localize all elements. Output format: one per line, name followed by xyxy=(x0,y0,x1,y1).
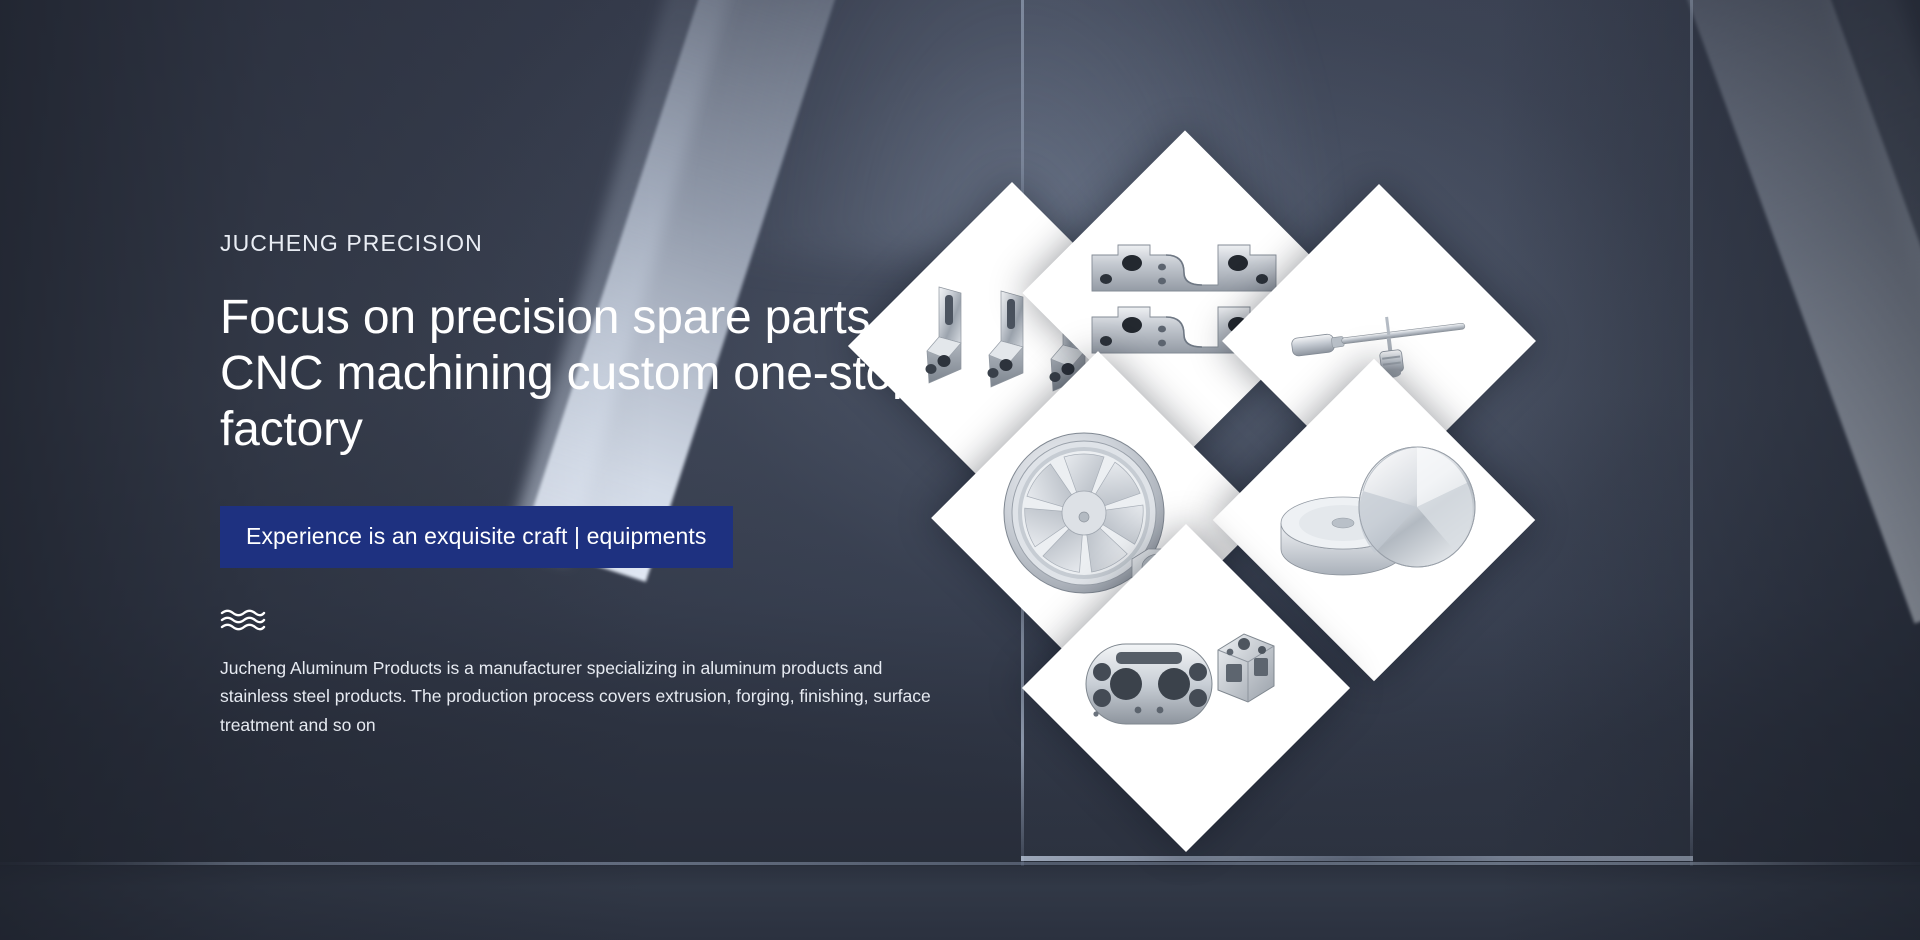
hero-description: Jucheng Aluminum Products is a manufactu… xyxy=(220,654,955,739)
studio-floor xyxy=(0,866,1920,940)
turned-disc-icon xyxy=(1271,431,1477,609)
hero-copy-block: JUCHENG PRECISION Focus on precision spa… xyxy=(220,230,980,739)
brand-eyebrow: JUCHENG PRECISION xyxy=(220,230,980,258)
floor-wall-seam xyxy=(0,862,1920,865)
diamond-product-gallery xyxy=(880,200,1800,860)
experience-cta-button[interactable]: Experience is an exquisite craft | equip… xyxy=(220,506,733,568)
hero-banner: JUCHENG PRECISION Focus on precision spa… xyxy=(0,0,1920,940)
wave-divider-icon xyxy=(220,608,980,634)
housing-plate-icon xyxy=(1080,608,1292,768)
page-title: Focus on precision spare parts CNC machi… xyxy=(220,290,920,458)
light-beam-right-soft xyxy=(1792,0,1920,576)
